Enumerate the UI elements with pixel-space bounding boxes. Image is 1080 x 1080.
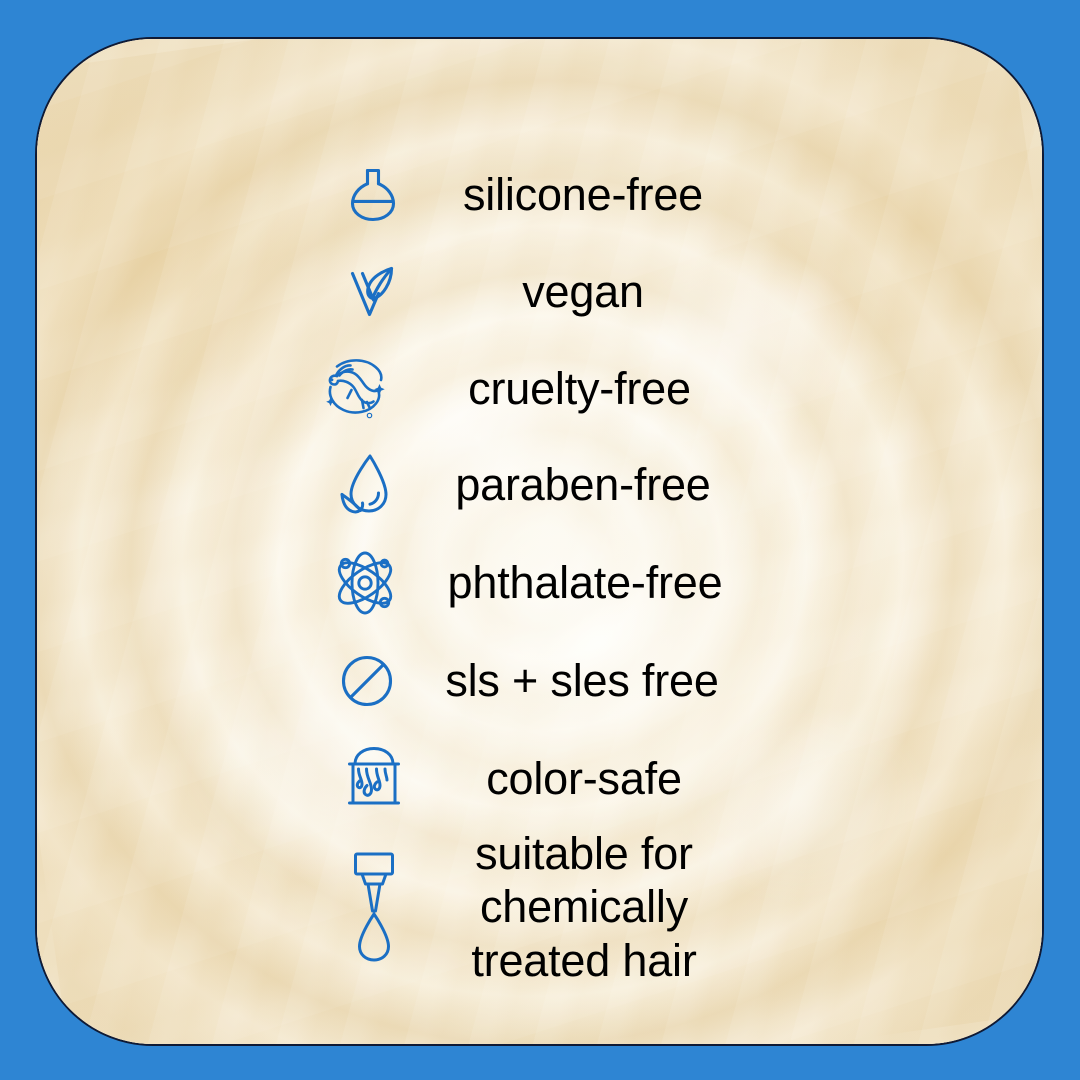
- droplet-leaf-icon: [335, 450, 401, 520]
- claim-label: cruelty-free: [397, 362, 762, 415]
- claim-item-silicone-free: silicone-free: [342, 157, 762, 233]
- leaping-bunny-icon: [317, 354, 397, 424]
- claim-label: vegan: [404, 265, 762, 318]
- flask-icon: [342, 164, 404, 226]
- claim-label: suitable for chemically treated hair: [406, 827, 762, 986]
- paint-bucket-icon: [342, 743, 406, 815]
- claim-item-sls-sles-free: sls + sles free: [335, 643, 765, 719]
- claim-item-phthalate-free: phthalate-free: [329, 545, 769, 621]
- leaf-vegan-icon: [342, 261, 404, 323]
- dropper-icon: [342, 848, 406, 966]
- claim-item-color-safe: color-safe: [342, 739, 762, 819]
- claim-item-chemically-treated-hair: suitable for chemically treated hair: [342, 817, 762, 997]
- claim-label: color-safe: [406, 752, 762, 805]
- claims-list: silicone-free vegan: [37, 39, 1044, 1046]
- screenshot-root: silicone-free vegan: [0, 0, 1080, 1080]
- claim-label: phthalate-free: [401, 556, 769, 609]
- atom-icon: [329, 547, 401, 619]
- claim-label: paraben-free: [401, 458, 765, 511]
- claim-label: sls + sles free: [399, 654, 765, 707]
- claim-item-cruelty-free: cruelty-free: [317, 351, 762, 427]
- prohibition-icon: [335, 649, 399, 713]
- product-claims-card: silicone-free vegan: [35, 37, 1044, 1046]
- claim-item-paraben-free: paraben-free: [335, 447, 765, 523]
- claim-item-vegan: vegan: [342, 254, 762, 330]
- claim-label: silicone-free: [404, 168, 762, 221]
